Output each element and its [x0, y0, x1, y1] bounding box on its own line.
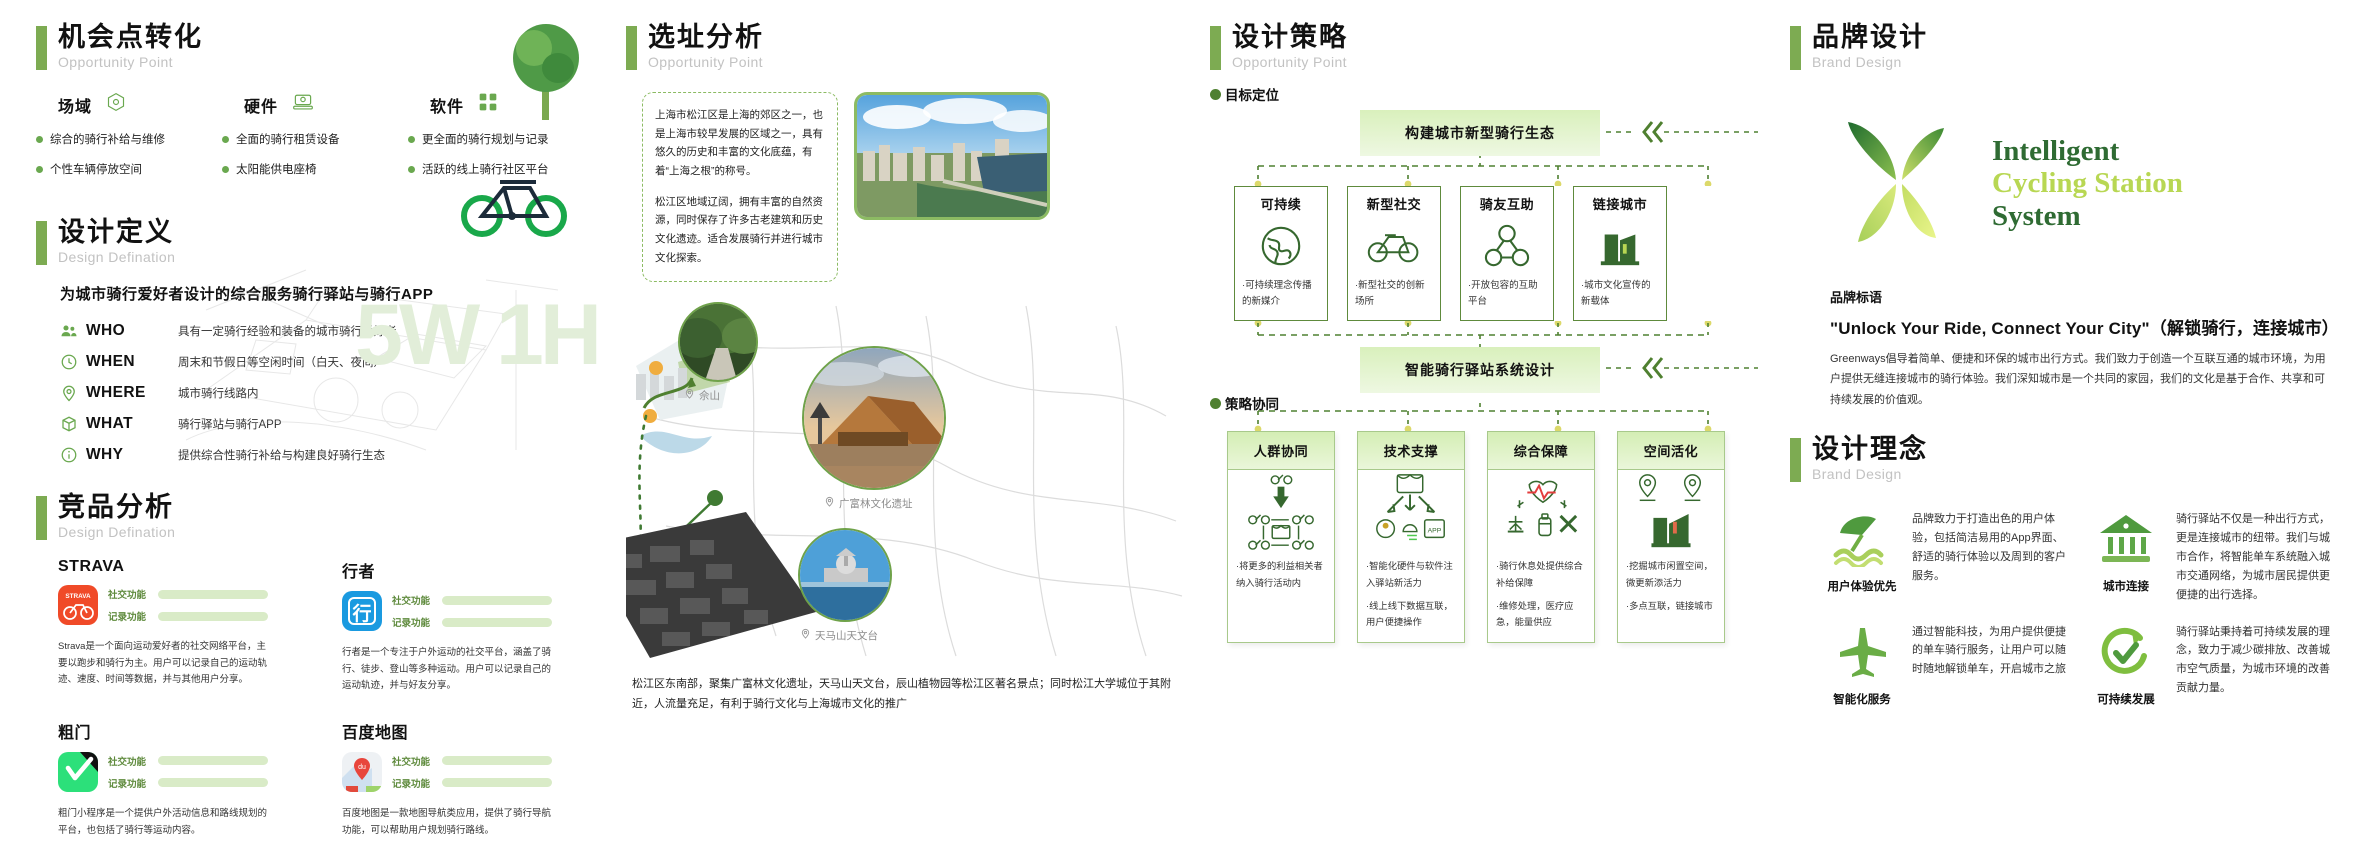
bar-label: 社交功能	[108, 587, 150, 601]
strategy-synergy-connector	[1232, 403, 1752, 431]
strategy-hero-mid: 智能骑行驿站系统设计	[1360, 347, 1600, 393]
synergy-title: 综合保障	[1488, 432, 1594, 470]
brand-line-3: System	[1992, 200, 2081, 232]
competitor-card: 粗门 社交功能 记录功能	[58, 719, 268, 839]
definition-value: 骑行驿站与骑行APP	[178, 416, 282, 432]
bar-track	[158, 778, 268, 787]
strategy-tree-connector	[1232, 154, 1752, 186]
definition-key: WHEN	[86, 353, 178, 371]
section-title-en: Opportunity Point	[648, 55, 764, 69]
competitor-card: STRAVA STRAVA 社交功能 记录功能	[58, 558, 268, 695]
site-note-paragraph: 松江区地域辽阔，拥有丰富的自然资源，同时保存了许多古老建筑和历史文化遗迹。适合发…	[655, 193, 825, 268]
goal-text: ·城市文化宣传的新载体	[1574, 274, 1666, 320]
goal-card: 链接城市 ·城市文化宣传的新载体	[1573, 186, 1667, 321]
strategy-tag-label: 目标定位	[1225, 84, 1279, 104]
site-aerial-photo	[854, 92, 1050, 220]
goal-text: ·可持续理念传播的新媒介	[1235, 274, 1327, 320]
competitor-name: STRAVA	[58, 558, 268, 576]
competitor-bar-row: 记录功能	[108, 776, 268, 790]
section-title-cn: 竞品分析	[58, 494, 175, 521]
bar-label: 社交功能	[392, 593, 434, 607]
definition-row: WHY 提供综合性骑行补给与构建良好骑行生态	[60, 442, 616, 468]
people-icon	[60, 322, 86, 340]
bar-track	[442, 618, 552, 627]
opportunity-group: 场域 综合的骑行补给与维修 个性车辆停放空间	[36, 92, 222, 191]
idea-grid: 用户体验优先 品牌致力于打造出色的用户体验，包括简洁易用的App界面、舒适的骑行…	[1824, 508, 2350, 707]
idea-card: 智能化服务 通过智能科技，为用户提供便捷的单车骑行服务，让用户可以随时随地解锁单…	[1824, 621, 2074, 707]
section-header-idea: 设计理念 Brand Design	[1790, 436, 2350, 482]
section-title-en: Brand Design	[1812, 55, 1928, 69]
column-brand: 品牌设计 Brand Design	[1790, 0, 2350, 707]
brand-wordmark: Intelligent Cycling Station System	[1992, 135, 2183, 232]
section-title-cn: 选址分析	[648, 24, 764, 51]
synergy-title: 技术支撑	[1358, 432, 1464, 470]
definition-row: WHERE 城市骑行线路内	[60, 380, 616, 406]
poi-caption: 佘山	[684, 388, 758, 403]
idea-label: 城市连接	[2103, 578, 2149, 594]
competitor-bar-row: 社交功能	[392, 754, 552, 768]
bank-icon	[2096, 508, 2156, 570]
brand-slogan: "Unlock Your Ride, Connect Your City"（解锁…	[1830, 314, 2350, 339]
bullet-dot	[1210, 89, 1221, 100]
site-map: 佘山 广富林文化遗址 天马山天文台	[626, 296, 1186, 666]
idea-label: 可持续发展	[2097, 691, 2155, 707]
definition-key: WHO	[86, 322, 178, 340]
synergy-text: ·骑行休息处提供综合补给保障 ·维修处理，医疗应急，能量供应	[1488, 556, 1594, 642]
strategy-tag-label: 策略协同	[1225, 393, 1279, 413]
synergy-title: 人群协同	[1228, 432, 1334, 470]
section-header-brand: 品牌设计 Brand Design	[1790, 24, 2350, 70]
definition-value: 周末和节假日等空闲时间（白天、夜间）	[178, 354, 385, 370]
bicycle-illustration	[460, 168, 570, 243]
strategy-mid-connector	[1232, 321, 1752, 347]
recycle-check-icon	[2096, 621, 2156, 683]
opportunity-group-title: 软件	[430, 93, 464, 117]
bar-label: 记录功能	[108, 776, 150, 790]
opportunity-item-label: 太阳能供电座椅	[236, 161, 317, 177]
synergy-card: 技术支撑 APP ·智能化硬件与软件注入驿站新活力 ·线上线下数据互联，用户便捷…	[1357, 431, 1465, 643]
idea-card: 用户体验优先 品牌致力于打造出色的用户体验，包括简洁易用的App界面、舒适的骑行…	[1824, 508, 2074, 605]
box-icon	[60, 415, 86, 433]
bar-label: 记录功能	[108, 609, 150, 623]
tech-stack-icon: APP	[1358, 470, 1464, 556]
idea-label: 用户体验优先	[1828, 578, 1897, 594]
site-footer-text: 松江区东南部，聚集广富林文化遗址，天马山天文台，辰山植物园等松江区著名景点；同时…	[626, 674, 1186, 715]
pin-icon	[60, 384, 86, 402]
brand-slogan-description: Greenways倡导着简单、便捷和环保的城市出行方式。我们致力于创造一个互联互…	[1830, 349, 2330, 410]
bullet-dot	[408, 136, 415, 143]
idea-text: 品牌致力于打造出色的用户体验，包括简洁易用的App界面、舒适的骑行体验以及周到的…	[1912, 508, 2074, 605]
synergy-line: ·将更多的利益相关者纳入骑行活动内	[1236, 558, 1326, 591]
bar-track	[442, 778, 552, 787]
svg-text:du: du	[358, 764, 366, 771]
synergy-title: 空间活化	[1618, 432, 1724, 470]
strategy-hero-top: 构建城市新型骑行生态	[1360, 110, 1600, 156]
definition-row: WHAT 骑行驿站与骑行APP	[60, 411, 616, 437]
competitor-card: 百度地图 du 社交功能 记录功能	[342, 719, 552, 839]
definition-key: WHAT	[86, 415, 178, 433]
synergy-text: ·挖掘城市闲置空间，微更新添活力 ·多点互联，链接城市	[1618, 556, 1724, 626]
bullet-dot	[408, 166, 415, 173]
idea-card: 城市连接 骑行驿站不仅是一种出行方式，更是连接城市的纽带。我们与城市合作，将智能…	[2088, 508, 2338, 605]
opportunity-item-label: 更全面的骑行规划与记录	[422, 131, 549, 147]
strategy-connector-right-top	[1606, 110, 1766, 154]
poi-marker: 佘山	[678, 302, 758, 403]
section-title-cn: 机会点转化	[58, 24, 203, 51]
section-accent-bar	[626, 26, 637, 70]
competitor-bar-row: 记录功能	[108, 609, 268, 623]
site-intro-row: 上海市松江区是上海的郊区之一，也是上海市较早发展的区域之一，具有悠久的历史和丰富…	[626, 92, 1186, 282]
competitor-bar-row: 社交功能	[392, 593, 552, 607]
synergy-line: ·挖掘城市闲置空间，微更新添活力	[1626, 558, 1716, 591]
goal-card: 新型社交 ·新型社交的创新场所	[1347, 186, 1441, 321]
competitor-name: 百度地图	[342, 719, 552, 743]
section-title-en: Design Defination	[58, 250, 175, 264]
section-title-en: Design Defination	[58, 525, 175, 539]
definition-value: 提供综合性骑行补给与构建良好骑行生态	[178, 447, 385, 463]
synergy-text: ·将更多的利益相关者纳入骑行活动内	[1228, 556, 1334, 603]
support-kit-icon	[1488, 470, 1594, 556]
poi-label: 天马山天文台	[815, 628, 878, 643]
opportunity-item-label: 个性车辆停放空间	[50, 161, 142, 177]
bullet-dot	[36, 166, 43, 173]
poi-photo	[678, 302, 758, 382]
opportunity-item: 综合的骑行补给与维修	[36, 131, 222, 147]
goal-card: 骑友互助 ·开放包容的互助平台	[1460, 186, 1554, 321]
cumen-app-icon	[58, 752, 98, 792]
section-accent-bar	[36, 496, 47, 540]
competitor-bar-row: 记录功能	[392, 776, 552, 790]
bullet-dot	[222, 166, 229, 173]
info-icon	[60, 446, 86, 464]
poi-photo	[802, 346, 946, 490]
xingzhe-app-icon: 行	[342, 591, 382, 631]
opportunity-item-label: 综合的骑行补给与维修	[50, 131, 165, 147]
poi-label: 佘山	[699, 388, 720, 403]
synergy-line: ·线上线下数据互联，用户便捷操作	[1366, 598, 1456, 631]
globe-icon	[1235, 218, 1327, 274]
section-title-cn: 设计理念	[1812, 436, 1928, 463]
umbrella-wave-icon	[1832, 508, 1892, 570]
clock-icon	[60, 353, 86, 371]
section-title-en: Opportunity Point	[58, 55, 203, 69]
synergy-card: 空间活化 ·挖掘城市闲置空间，微更新添活力 ·多点互联，链接城市	[1617, 431, 1725, 643]
section-header-strategy: 设计策略 Opportunity Point	[1210, 24, 1770, 70]
section-header-competitor: 竞品分析 Design Defination	[36, 494, 616, 540]
synergy-line: ·智能化硬件与软件注入驿站新活力	[1366, 558, 1456, 591]
site-note-box: 上海市松江区是上海的郊区之一，也是上海市较早发展的区域之一，具有悠久的历史和丰富…	[642, 92, 838, 282]
map-pin-icon	[824, 496, 835, 510]
bar-track	[158, 590, 268, 599]
building-icon	[1574, 218, 1666, 274]
opportunity-item: 个性车辆停放空间	[36, 161, 222, 177]
section-header-site: 选址分析 Opportunity Point	[626, 24, 1186, 70]
idea-card: 可持续发展 骑行驿站秉持着可持续发展的理念，致力于减少碳排放、改善城市空气质量，…	[2088, 621, 2338, 707]
column-site-analysis: 选址分析 Opportunity Point 上海市松江区是上海的郊区之一，也是…	[626, 0, 1186, 714]
poi-label: 广富林文化遗址	[839, 496, 913, 511]
section-title-en: Opportunity Point	[1232, 55, 1348, 69]
competitor-name: 粗门	[58, 719, 268, 743]
definition-value: 城市骑行线路内	[178, 385, 259, 401]
opportunity-item-label: 全面的骑行租赁设备	[236, 131, 340, 147]
competitor-grid: STRAVA STRAVA 社交功能 记录功能	[58, 558, 616, 839]
opportunity-group-header: 场域	[36, 92, 222, 117]
crowd-flow-icon	[1228, 470, 1334, 556]
section-title-cn: 设计策略	[1232, 24, 1348, 51]
competitor-bar-row: 社交功能	[108, 587, 268, 601]
synergy-card: 综合保障 ·骑行休息处提供综合补给保障 ·维修处理，医疗应急，能量供应	[1487, 431, 1595, 643]
goal-title: 新型社交	[1348, 187, 1440, 218]
section-accent-bar	[36, 26, 47, 70]
bicycle-icon	[1348, 218, 1440, 274]
section-title-cn: 设计定义	[58, 219, 175, 246]
bar-track	[442, 756, 552, 765]
synergy-text: ·智能化硬件与软件注入驿站新活力 ·线上线下数据互联，用户便捷操作	[1358, 556, 1464, 642]
column-design-strategy: 设计策略 Opportunity Point 目标定位 构建城市新型骑行生态	[1210, 0, 1770, 643]
goal-title: 可持续	[1235, 187, 1327, 218]
map-pin-icon	[684, 388, 695, 402]
synergy-line: ·维修处理，医疗应急，能量供应	[1496, 598, 1586, 631]
goal-title: 骑友互助	[1461, 187, 1553, 218]
opportunity-group: 硬件 全面的骑行租赁设备 太阳能供电座椅	[222, 92, 408, 191]
site-note-paragraph: 上海市松江区是上海的郊区之一，也是上海市较早发展的区域之一，具有悠久的历史和丰富…	[655, 106, 825, 181]
bullet-dot	[1210, 398, 1221, 409]
leaf-logo-icon	[1824, 106, 1974, 261]
svg-text:APP: APP	[1428, 528, 1442, 535]
opportunity-item: 更全面的骑行规划与记录	[408, 131, 594, 147]
grid-icon	[478, 92, 498, 117]
column-left: 机会点转化 Opportunity Point 场域	[36, 0, 616, 839]
section-accent-bar	[1790, 438, 1801, 482]
cube-icon	[106, 92, 126, 117]
section-accent-bar	[1210, 26, 1221, 70]
device-icon	[292, 92, 314, 117]
idea-text: 通过智能科技，为用户提供便捷的单车骑行服务，让用户可以随时随地解锁单车，开启城市…	[1912, 621, 2074, 707]
opportunity-item: 太阳能供电座椅	[222, 161, 408, 177]
brand-line-2: Cycling Station	[1992, 167, 2183, 199]
competitor-bar-row: 记录功能	[392, 615, 552, 629]
bar-track	[158, 612, 268, 621]
section-title-cn: 品牌设计	[1812, 24, 1928, 51]
five-w-one-h-watermark: 5W 1H	[355, 300, 598, 371]
goal-title: 链接城市	[1574, 187, 1666, 218]
bar-label: 记录功能	[392, 776, 434, 790]
goal-card: 可持续 ·可持续理念传播的新媒介	[1234, 186, 1328, 321]
competitor-description: 百度地图是一款地图导航类应用，提供了骑行导航功能，可以帮助用户规划骑行路线。	[342, 806, 552, 839]
competitor-description: Strava是一个面向运动爱好者的社交网络平台，主要以跑步和骑行为主。用户可以记…	[58, 639, 268, 689]
goal-text: ·新型社交的创新场所	[1348, 274, 1440, 320]
competitor-name: 行者	[342, 558, 552, 582]
baidumap-app-icon: du	[342, 752, 382, 792]
network-icon	[1461, 218, 1553, 274]
section-title-en: Brand Design	[1812, 467, 1928, 481]
airplane-icon	[1832, 621, 1892, 683]
strategy-tag-goal: 目标定位	[1210, 84, 1770, 104]
brand-line-1: Intelligent	[1992, 135, 2119, 167]
map-pin-icon	[800, 628, 811, 642]
opportunity-group-header: 硬件	[222, 92, 408, 117]
section-accent-bar	[1790, 26, 1801, 70]
idea-text: 骑行驿站不仅是一种出行方式，更是连接城市的纽带。我们与城市合作，将智能单车系统融…	[2176, 508, 2338, 605]
poi-photo	[798, 528, 892, 622]
synergy-line: ·多点互联，链接城市	[1626, 598, 1716, 614]
opportunity-item: 全面的骑行租赁设备	[222, 131, 408, 147]
competitor-description: 粗门小程序是一个提供户外活动信息和路线规划的平台，也包括了骑行等运动内容。	[58, 806, 268, 839]
poi-marker: 广富林文化遗址	[802, 346, 946, 511]
bar-label: 记录功能	[392, 615, 434, 629]
definition-key: WHY	[86, 446, 178, 464]
tree-illustration	[510, 18, 582, 127]
poster-canvas: 机会点转化 Opportunity Point 场域	[0, 0, 2380, 842]
slogan-label: 品牌标语	[1830, 287, 2350, 306]
synergy-line: ·骑行休息处提供综合补给保障	[1496, 558, 1586, 591]
competitor-description: 行者是一个专注于户外运动的社交平台，涵盖了骑行、徒步、登山等多种运动。用户可以记…	[342, 645, 552, 695]
svg-text:行: 行	[351, 602, 371, 625]
bar-track	[442, 596, 552, 605]
competitor-card: 行者 行 社交功能 记录功能	[342, 558, 552, 695]
space-activate-icon	[1618, 470, 1724, 556]
section-accent-bar	[36, 221, 47, 265]
bar-label: 社交功能	[392, 754, 434, 768]
strategy-connector-right-mid	[1606, 347, 1766, 389]
bar-track	[158, 756, 268, 765]
idea-text: 骑行驿站秉持着可持续发展的理念，致力于减少碳排放、改善城市空气质量，为城市环境的…	[2176, 621, 2338, 707]
bullet-dot	[36, 136, 43, 143]
bar-label: 社交功能	[108, 754, 150, 768]
goal-text: ·开放包容的互助平台	[1461, 274, 1553, 320]
brand-logo: Intelligent Cycling Station System	[1824, 106, 2350, 261]
poi-marker: 天马山天文台	[798, 528, 892, 643]
strava-app-icon: STRAVA	[58, 585, 98, 625]
poi-caption: 广富林文化遗址	[824, 496, 946, 511]
synergy-card: 人群协同 ·将更多的利益相关者纳入骑行活动内	[1227, 431, 1335, 643]
opportunity-group-title: 场域	[58, 93, 92, 117]
svg-text:STRAVA: STRAVA	[65, 593, 91, 600]
poi-caption: 天马山天文台	[800, 628, 892, 643]
idea-label: 智能化服务	[1833, 691, 1891, 707]
competitor-bar-row: 社交功能	[108, 754, 268, 768]
opportunity-group-title: 硬件	[244, 93, 278, 117]
definition-key: WHERE	[86, 384, 178, 402]
bullet-dot	[222, 136, 229, 143]
